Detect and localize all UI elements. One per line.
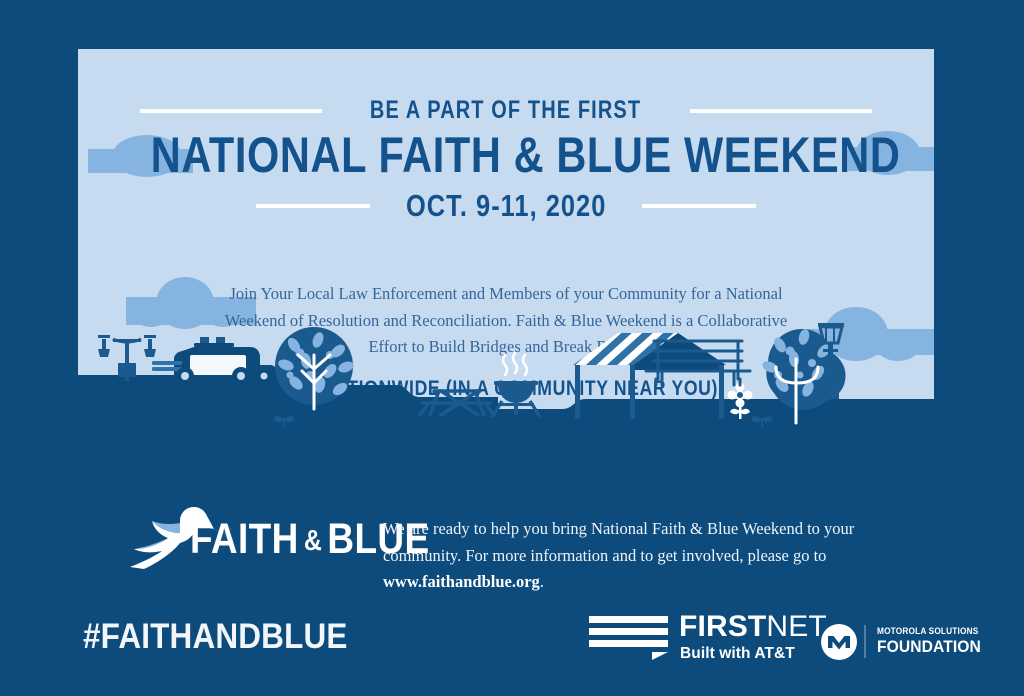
date-rule-left — [256, 204, 370, 208]
rule-left — [140, 109, 322, 113]
motorola-foundation-text: FOUNDATION — [877, 637, 981, 657]
website-url[interactable]: www.faithandblue.org — [383, 572, 540, 591]
divider — [864, 625, 866, 658]
motorola-solutions-text: MOTOROLA SOLUTIONS — [877, 626, 978, 636]
date-rule-right — [642, 204, 756, 208]
headline-block: BE A PART OF THE FIRST NATIONAL FAITH & … — [78, 49, 934, 224]
park-scene-illustration — [78, 323, 934, 443]
rule-right — [690, 109, 872, 113]
event-date: OCT. 9-11, 2020 — [406, 188, 606, 224]
page-title: NATIONAL FAITH & BLUE WEEKEND — [151, 129, 861, 181]
hashtag: #FAITHANDBLUE — [83, 617, 348, 657]
footer-copy-line2: community. For more information and to g… — [383, 546, 826, 565]
promo-card: BE A PART OF THE FIRST NATIONAL FAITH & … — [78, 49, 934, 443]
footer-copy-line1: We are ready to help you bring National … — [383, 519, 854, 538]
ground-baseline — [78, 427, 934, 443]
firstnet-first: FIRST — [679, 610, 766, 643]
kicker-text: BE A PART OF THE FIRST — [370, 96, 641, 125]
firstnet-tagline: Built with AT&T — [680, 645, 795, 663]
firstnet-logo: FIRSTNET® Built with AT&T — [589, 612, 799, 664]
bbq-grill — [492, 353, 540, 417]
firstnet-net: NET — [766, 610, 826, 643]
kicker-row: BE A PART OF THE FIRST — [78, 96, 934, 125]
firstnet-wordmark: FIRSTNET® — [679, 612, 836, 642]
motorola-batwing-icon — [821, 624, 857, 660]
wordmark-faith: FAITH — [190, 515, 299, 563]
wordmark-amp: & — [304, 525, 322, 557]
url-period: . — [540, 572, 544, 591]
date-row: OCT. 9-11, 2020 — [78, 188, 934, 224]
motorola-foundation-logo: MOTOROLA SOLUTIONS FOUNDATION — [821, 622, 946, 662]
footer-copy: We are ready to help you bring National … — [383, 516, 893, 596]
firstnet-bars-icon — [589, 616, 668, 660]
